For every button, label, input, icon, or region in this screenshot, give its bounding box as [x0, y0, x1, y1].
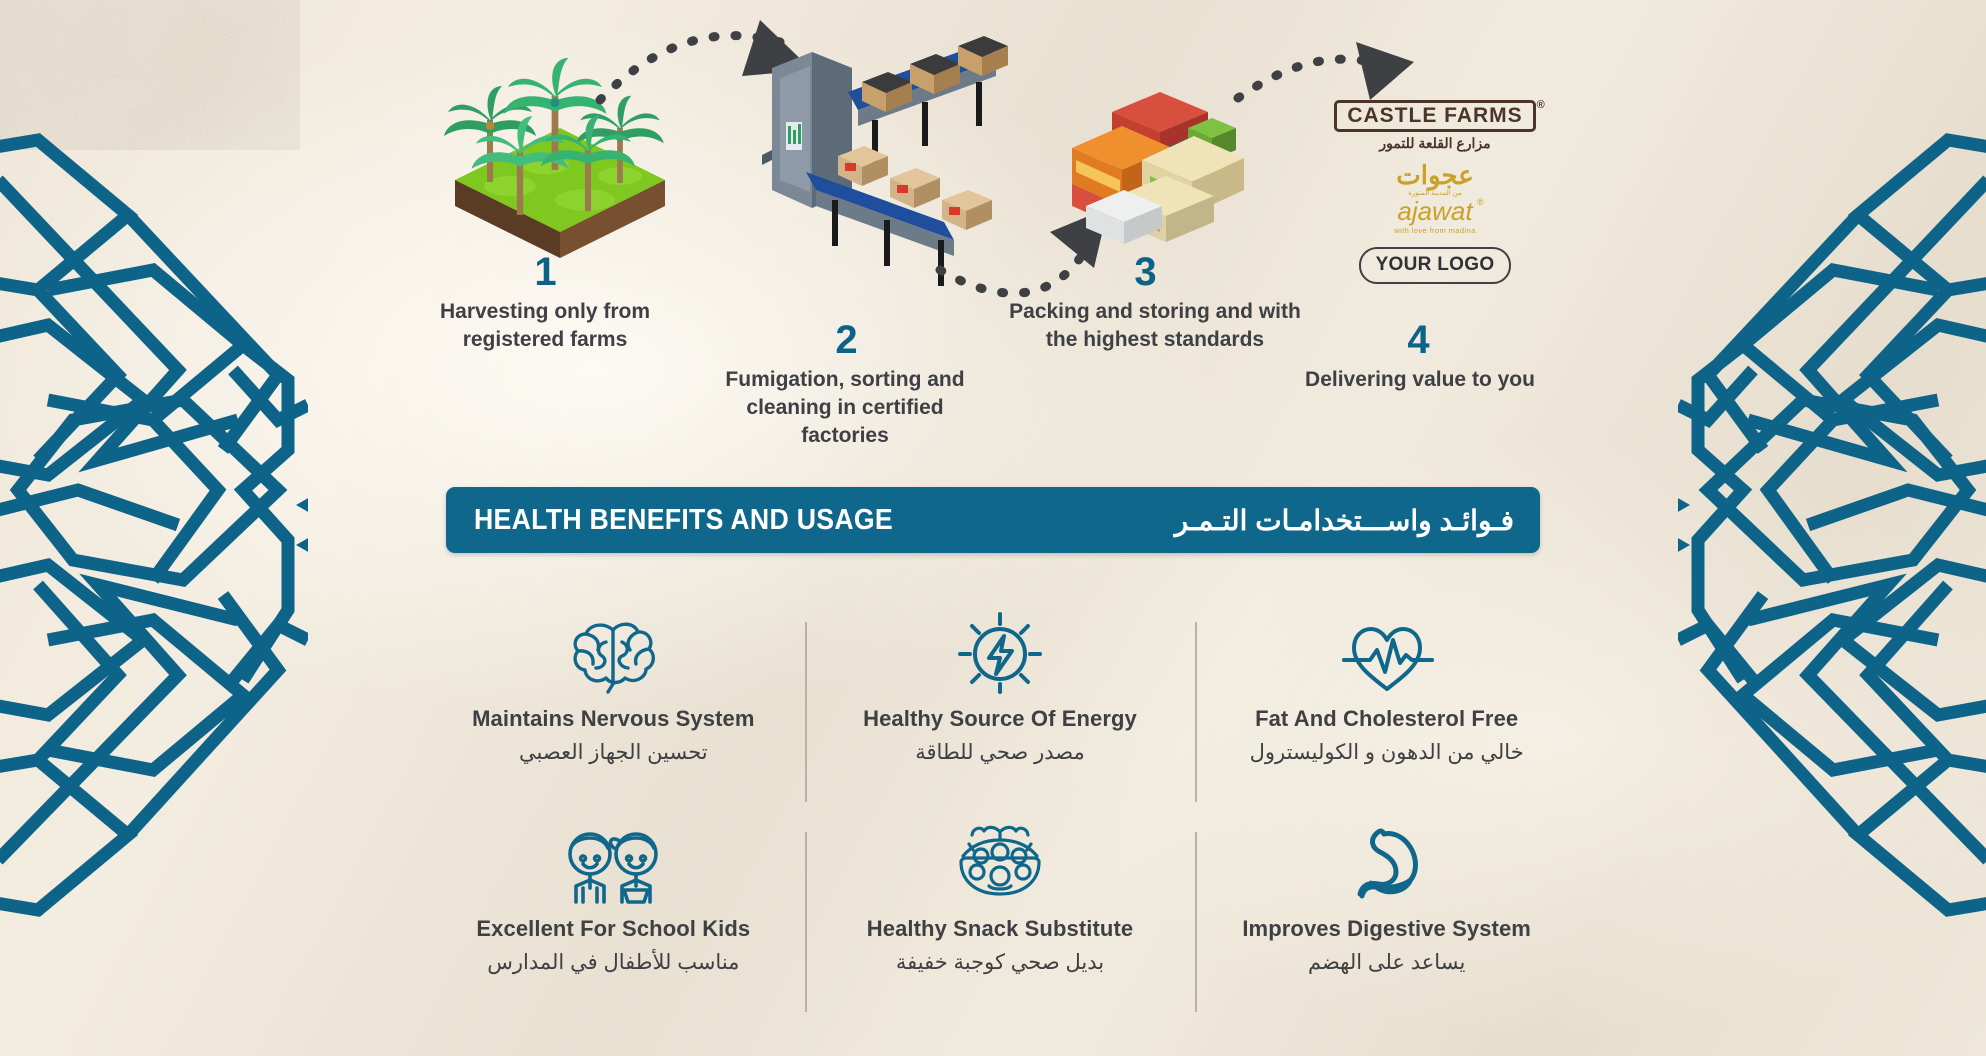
flow-arrow-3: [1238, 42, 1414, 100]
palm-farm-isometric-icon: [444, 58, 665, 258]
heart-pulse-icon: [1340, 608, 1434, 694]
stomach-digestion-icon: [1340, 818, 1434, 904]
benefit-title-en: Improves Digestive System: [1242, 916, 1531, 942]
step-2-number: 2: [786, 318, 906, 363]
step-1-number: 1: [485, 250, 605, 295]
islamic-pattern-left: [0, 120, 308, 920]
castle-farms-logo: CASTLE FARMS ®: [1334, 100, 1535, 132]
stacked-crates-isometric-icon: [1072, 92, 1244, 244]
flow-arrow-2: [940, 208, 1108, 293]
ajawat-arabic: عجوات: [1330, 162, 1540, 188]
benefits-grid: Maintains Nervous System تحسين الجهاز ال…: [420, 600, 1580, 1020]
energy-sun-bolt-icon: [957, 608, 1043, 694]
paper-blotches: [0, 0, 300, 150]
castle-farms-arabic: مزارع القلعة للتمور: [1334, 135, 1535, 152]
benefit-title-en: Healthy Source Of Energy: [863, 706, 1137, 732]
step-1-label: Harvesting only from registered farms: [390, 298, 700, 354]
step-4-number: 4: [1358, 318, 1478, 363]
benefit-item: Maintains Nervous System تحسين الجهاز ال…: [420, 600, 807, 810]
healthy-snack-icon: [953, 818, 1047, 904]
brand-logo-block: CASTLE FARMS ® مزارع القلعة للتمور عجوات…: [1330, 100, 1540, 284]
health-benefits-banner: HEALTH BENEFITS AND USAGE فـوائـد واســـ…: [446, 487, 1540, 553]
ajawat-name: ajawat®: [1397, 198, 1472, 224]
step-4-label: Delivering value to you: [1290, 366, 1550, 394]
benefit-title-ar: تحسين الجهاز العصبي: [519, 740, 708, 765]
infographic-canvas: 1 Harvesting only from registered farms …: [0, 0, 1986, 1056]
paper-texture: [0, 0, 300, 150]
your-logo-placeholder[interactable]: YOUR LOGO: [1359, 247, 1512, 284]
step-3-number: 3: [1085, 250, 1205, 295]
banner-title-en: HEALTH BENEFITS AND USAGE: [474, 504, 893, 537]
ajawat-name-text: ajawat: [1397, 196, 1472, 226]
benefit-title-ar: مناسب للأطفال في المدارس: [487, 950, 739, 975]
benefit-title-ar: خالي من الدهون و الكوليسترول: [1250, 740, 1524, 765]
benefit-title-en: Fat And Cholesterol Free: [1255, 706, 1518, 732]
ajawat-logo: عجوات من المدينة المنورة ajawat® with lo…: [1330, 162, 1540, 235]
step-2-label: Fumigation, sorting and cleaning in cert…: [700, 366, 990, 450]
brain-icon: [570, 608, 656, 694]
registered-mark-icon: ®: [1477, 198, 1484, 207]
school-kids-icon: [558, 818, 668, 904]
benefit-title-en: Excellent For School Kids: [476, 916, 750, 942]
benefit-title-en: Maintains Nervous System: [472, 706, 754, 732]
factory-conveyor-isometric-icon: [762, 36, 1008, 286]
process-flow-illustration: [0, 0, 1986, 470]
banner-title-ar: فـوائـد واســـتخدامـات التـمـر: [1175, 504, 1514, 537]
benefit-item: Healthy Snack Substitute بديل صحي كوجبة …: [807, 810, 1194, 1020]
flow-arrow-1: [600, 20, 812, 100]
benefit-item: Excellent For School Kids مناسب للأطفال …: [420, 810, 807, 1020]
benefit-item: Healthy Source Of Energy مصدر صحي للطاقة: [807, 600, 1194, 810]
benefit-title-en: Healthy Snack Substitute: [867, 916, 1133, 942]
benefit-title-ar: بديل صحي كوجبة خفيفة: [896, 950, 1104, 975]
castle-farms-name: CASTLE FARMS: [1347, 105, 1522, 126]
islamic-pattern-right: [1678, 120, 1986, 920]
registered-mark-icon: ®: [1537, 99, 1545, 111]
benefit-title-ar: يساعد على الهضم: [1308, 950, 1465, 975]
ajawat-tagline: with love from madina: [1330, 226, 1540, 235]
benefit-item: Improves Digestive System يساعد على الهض…: [1193, 810, 1580, 1020]
step-3-label: Packing and storing and with the highest…: [1000, 298, 1310, 354]
benefit-title-ar: مصدر صحي للطاقة: [915, 740, 1084, 765]
benefit-item: Fat And Cholesterol Free خالي من الدهون …: [1193, 600, 1580, 810]
